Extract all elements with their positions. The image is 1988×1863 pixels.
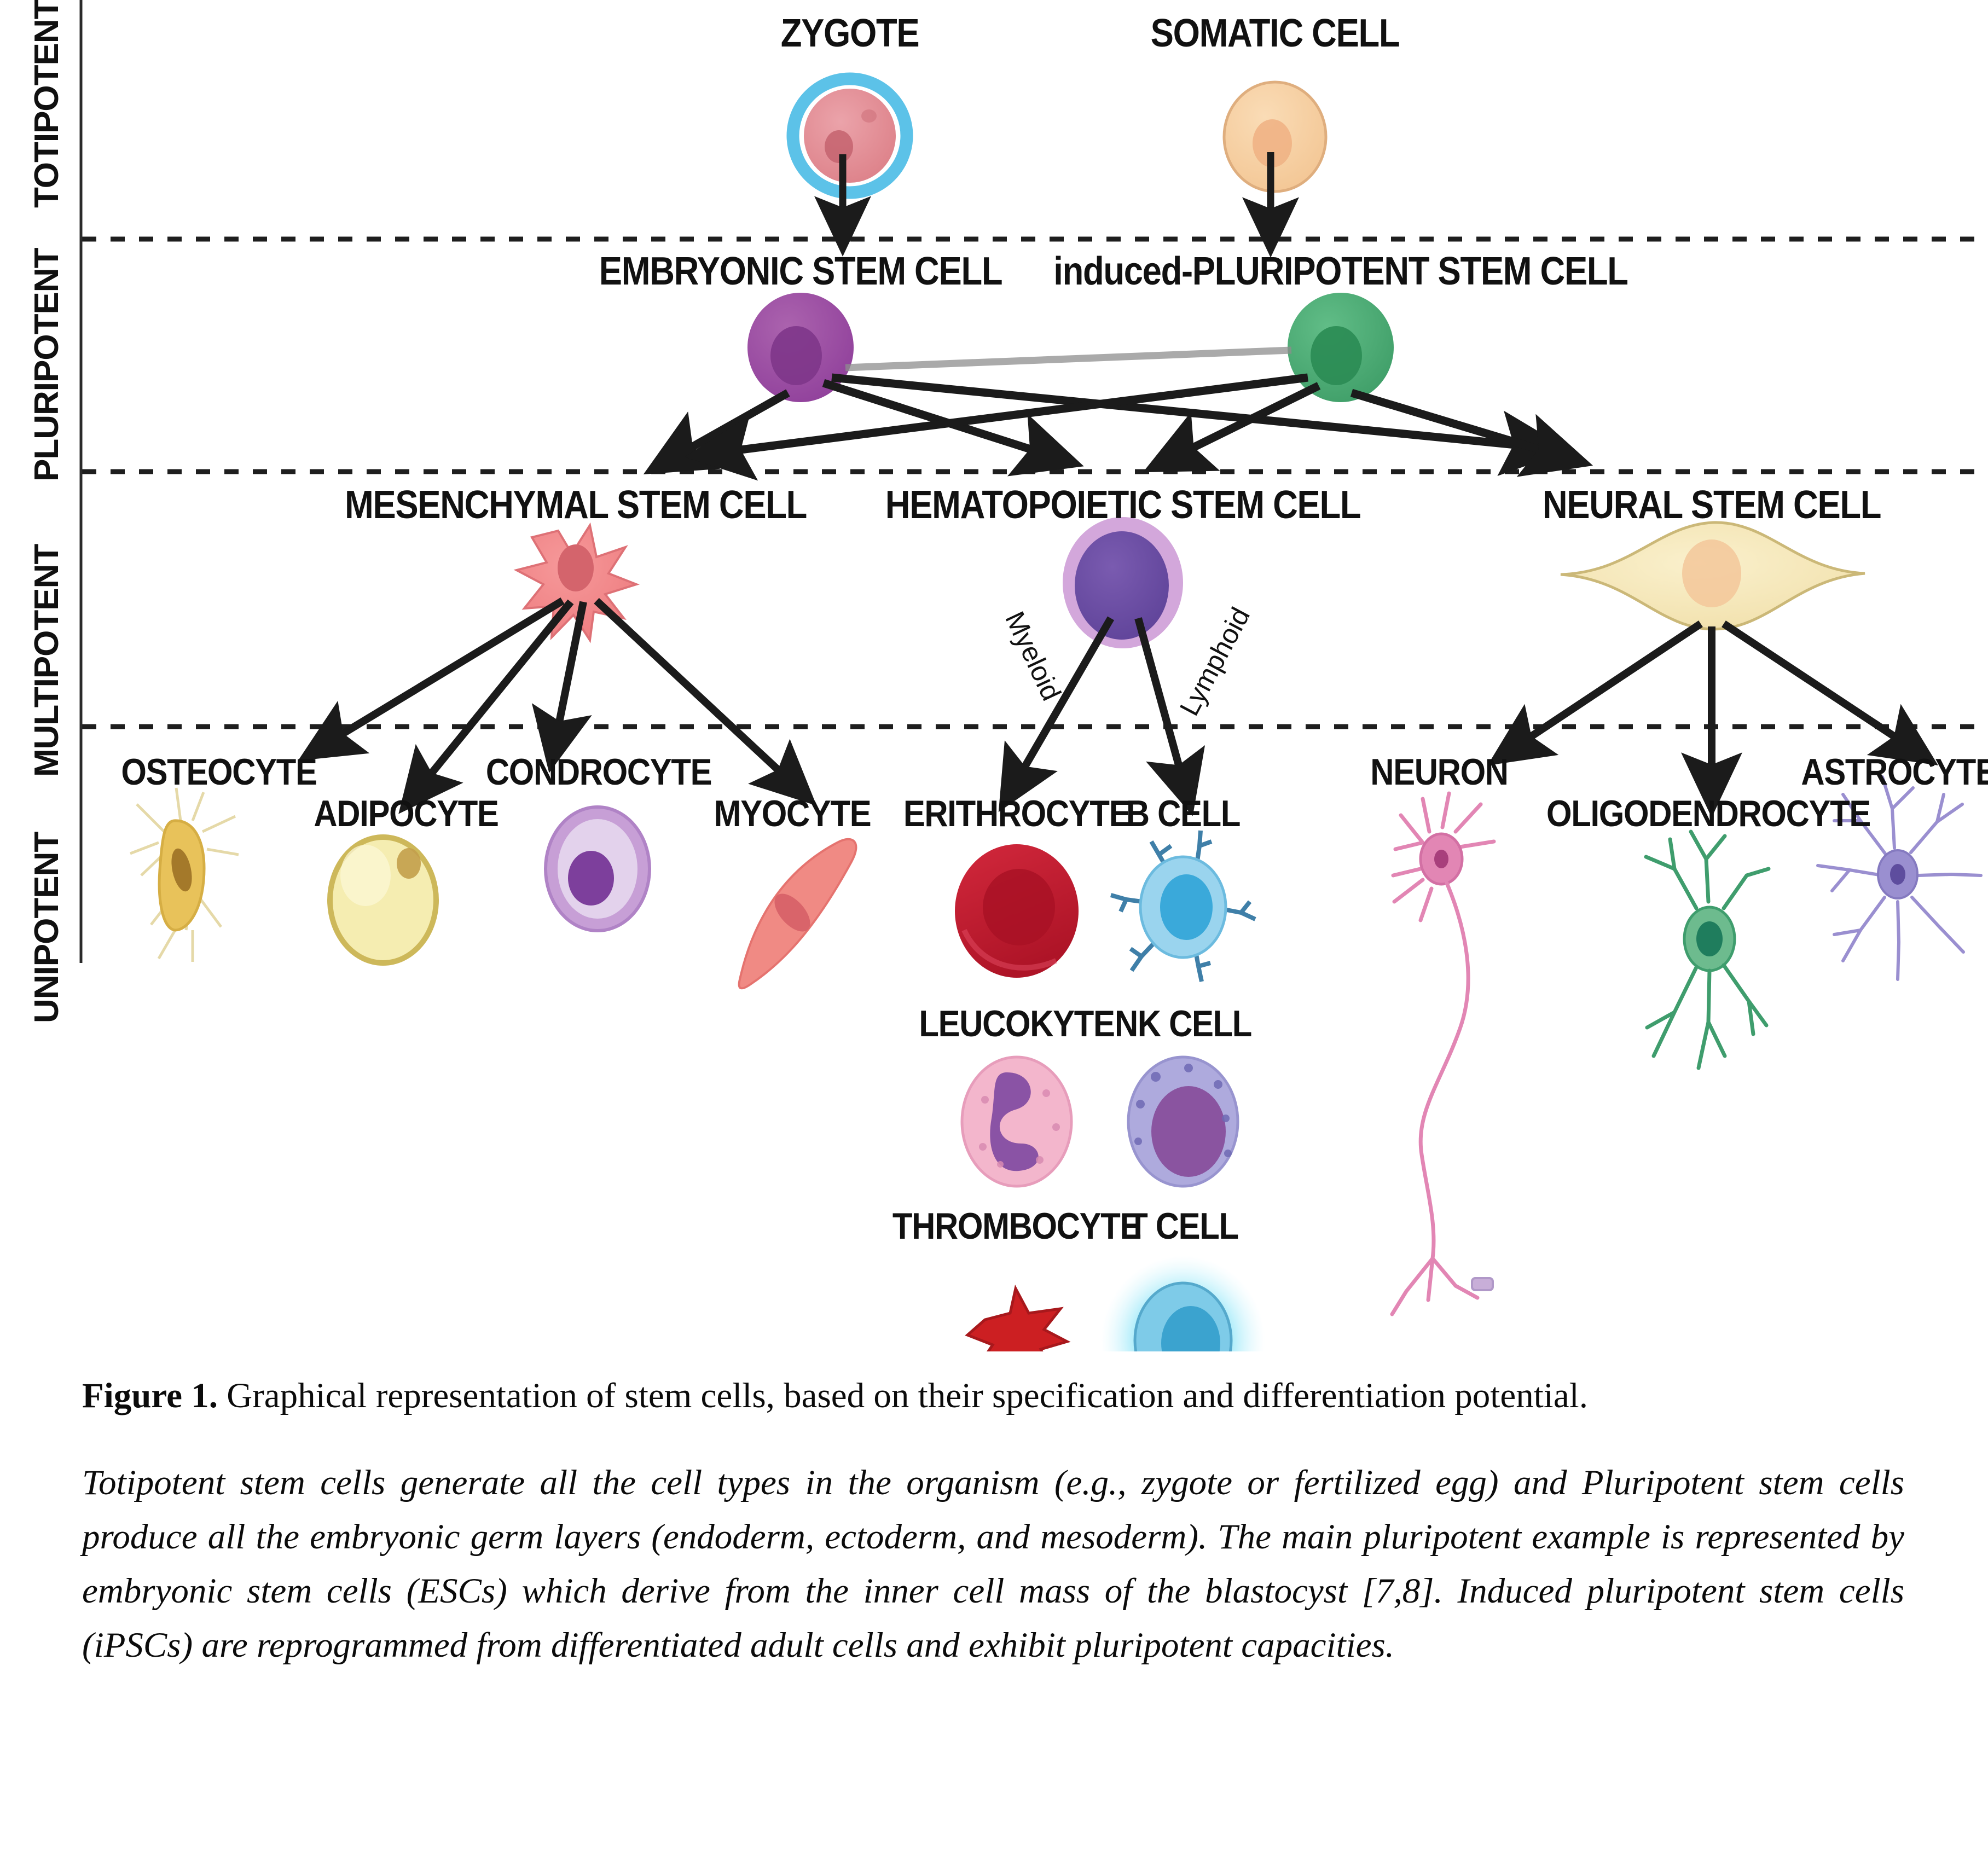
cell-adipocyte — [330, 837, 436, 963]
cell-induced-pluripotent-stem-cell — [1288, 293, 1394, 402]
arrow-hsc-to-lymphoid — [1138, 618, 1182, 777]
label-nk-cell: NK CELL — [1115, 1002, 1251, 1045]
label-thrombocyte: THROMBOCYTE — [892, 1205, 1141, 1247]
cell-condrocyte — [546, 807, 650, 931]
figure-canvas — [0, 0, 1988, 1351]
label-somatic-cell: SOMATIC CELL — [1151, 11, 1400, 56]
label-adipocyte: ADIPOCYTE — [314, 792, 498, 835]
label-erithrocyte: ERITHROCYTE — [903, 792, 1130, 835]
label-neuron: NEURON — [1370, 751, 1508, 793]
figure-caption-text: Graphical representation of stem cells, … — [218, 1376, 1588, 1415]
cell-leucokyte — [962, 1057, 1071, 1186]
cell-osteocyte — [130, 788, 239, 962]
arrow-ipsc-to-nsc — [1352, 393, 1551, 453]
stem-cell-hierarchy-figure: TOTIPOTENT PLURIPOTENT MULTIPOTENT UNIPO… — [0, 0, 1988, 1351]
arrow-nsc-to-neuron — [1521, 624, 1701, 743]
figure-caption-block: Figure 1. Graphical representation of st… — [82, 1371, 1904, 1672]
figure-caption: Figure 1. Graphical representation of st… — [82, 1371, 1904, 1421]
label-myocyte: MYOCYTE — [714, 792, 871, 835]
cell-zygote — [793, 79, 907, 193]
cell-nk-cell — [1128, 1057, 1238, 1186]
cell-t-cell — [1101, 1256, 1265, 1351]
arrow-msc-to-osteocyte — [333, 601, 563, 740]
figure-number: Figure 1. — [82, 1376, 218, 1415]
figure-body-text: Totipotent stem cells generate all the c… — [82, 1456, 1904, 1672]
label-neural-stem-cell: NEURAL STEM CELL — [1543, 483, 1881, 527]
label-astrocyte: ASTROCYTE — [1801, 751, 1988, 793]
link-esc-ipsc — [845, 350, 1291, 368]
label-zygote: ZYGOTE — [781, 11, 919, 56]
label-embryonic-stem-cell: EMBRYONIC STEM CELL — [599, 249, 1002, 294]
cell-neuron — [1392, 793, 1494, 1314]
cell-myocyte — [739, 839, 856, 989]
cell-thrombocyte — [967, 1289, 1067, 1351]
cell-somatic — [1224, 82, 1326, 191]
cell-hematopoietic-stem-cell — [1063, 517, 1183, 648]
label-t-cell: T CELL — [1128, 1205, 1238, 1247]
cell-b-cell — [1111, 831, 1255, 982]
label-oligodendrocyte: OLIGODENDROCYTE — [1546, 792, 1870, 835]
cell-oligodendrocyte — [1646, 832, 1769, 1068]
label-induced-pluripotent-stem-cell: induced-PLURIPOTENT STEM CELL — [1053, 249, 1627, 294]
label-b-cell: B CELL — [1126, 792, 1240, 835]
label-mesenchymal-stem-cell: MESENCHYMAL STEM CELL — [345, 483, 807, 527]
cell-erithrocyte — [955, 844, 1079, 978]
label-leucokyte: LEUCOKYTE — [919, 1002, 1114, 1045]
arrow-nsc-to-astrocyte — [1724, 624, 1904, 743]
label-osteocyte: OSTEOCYTE — [121, 751, 316, 793]
cell-neural-stem-cell — [1561, 523, 1865, 629]
label-condrocyte: CONDROCYTE — [486, 751, 711, 793]
label-hematopoietic-stem-cell: HEMATOPOIETIC STEM CELL — [885, 483, 1360, 527]
